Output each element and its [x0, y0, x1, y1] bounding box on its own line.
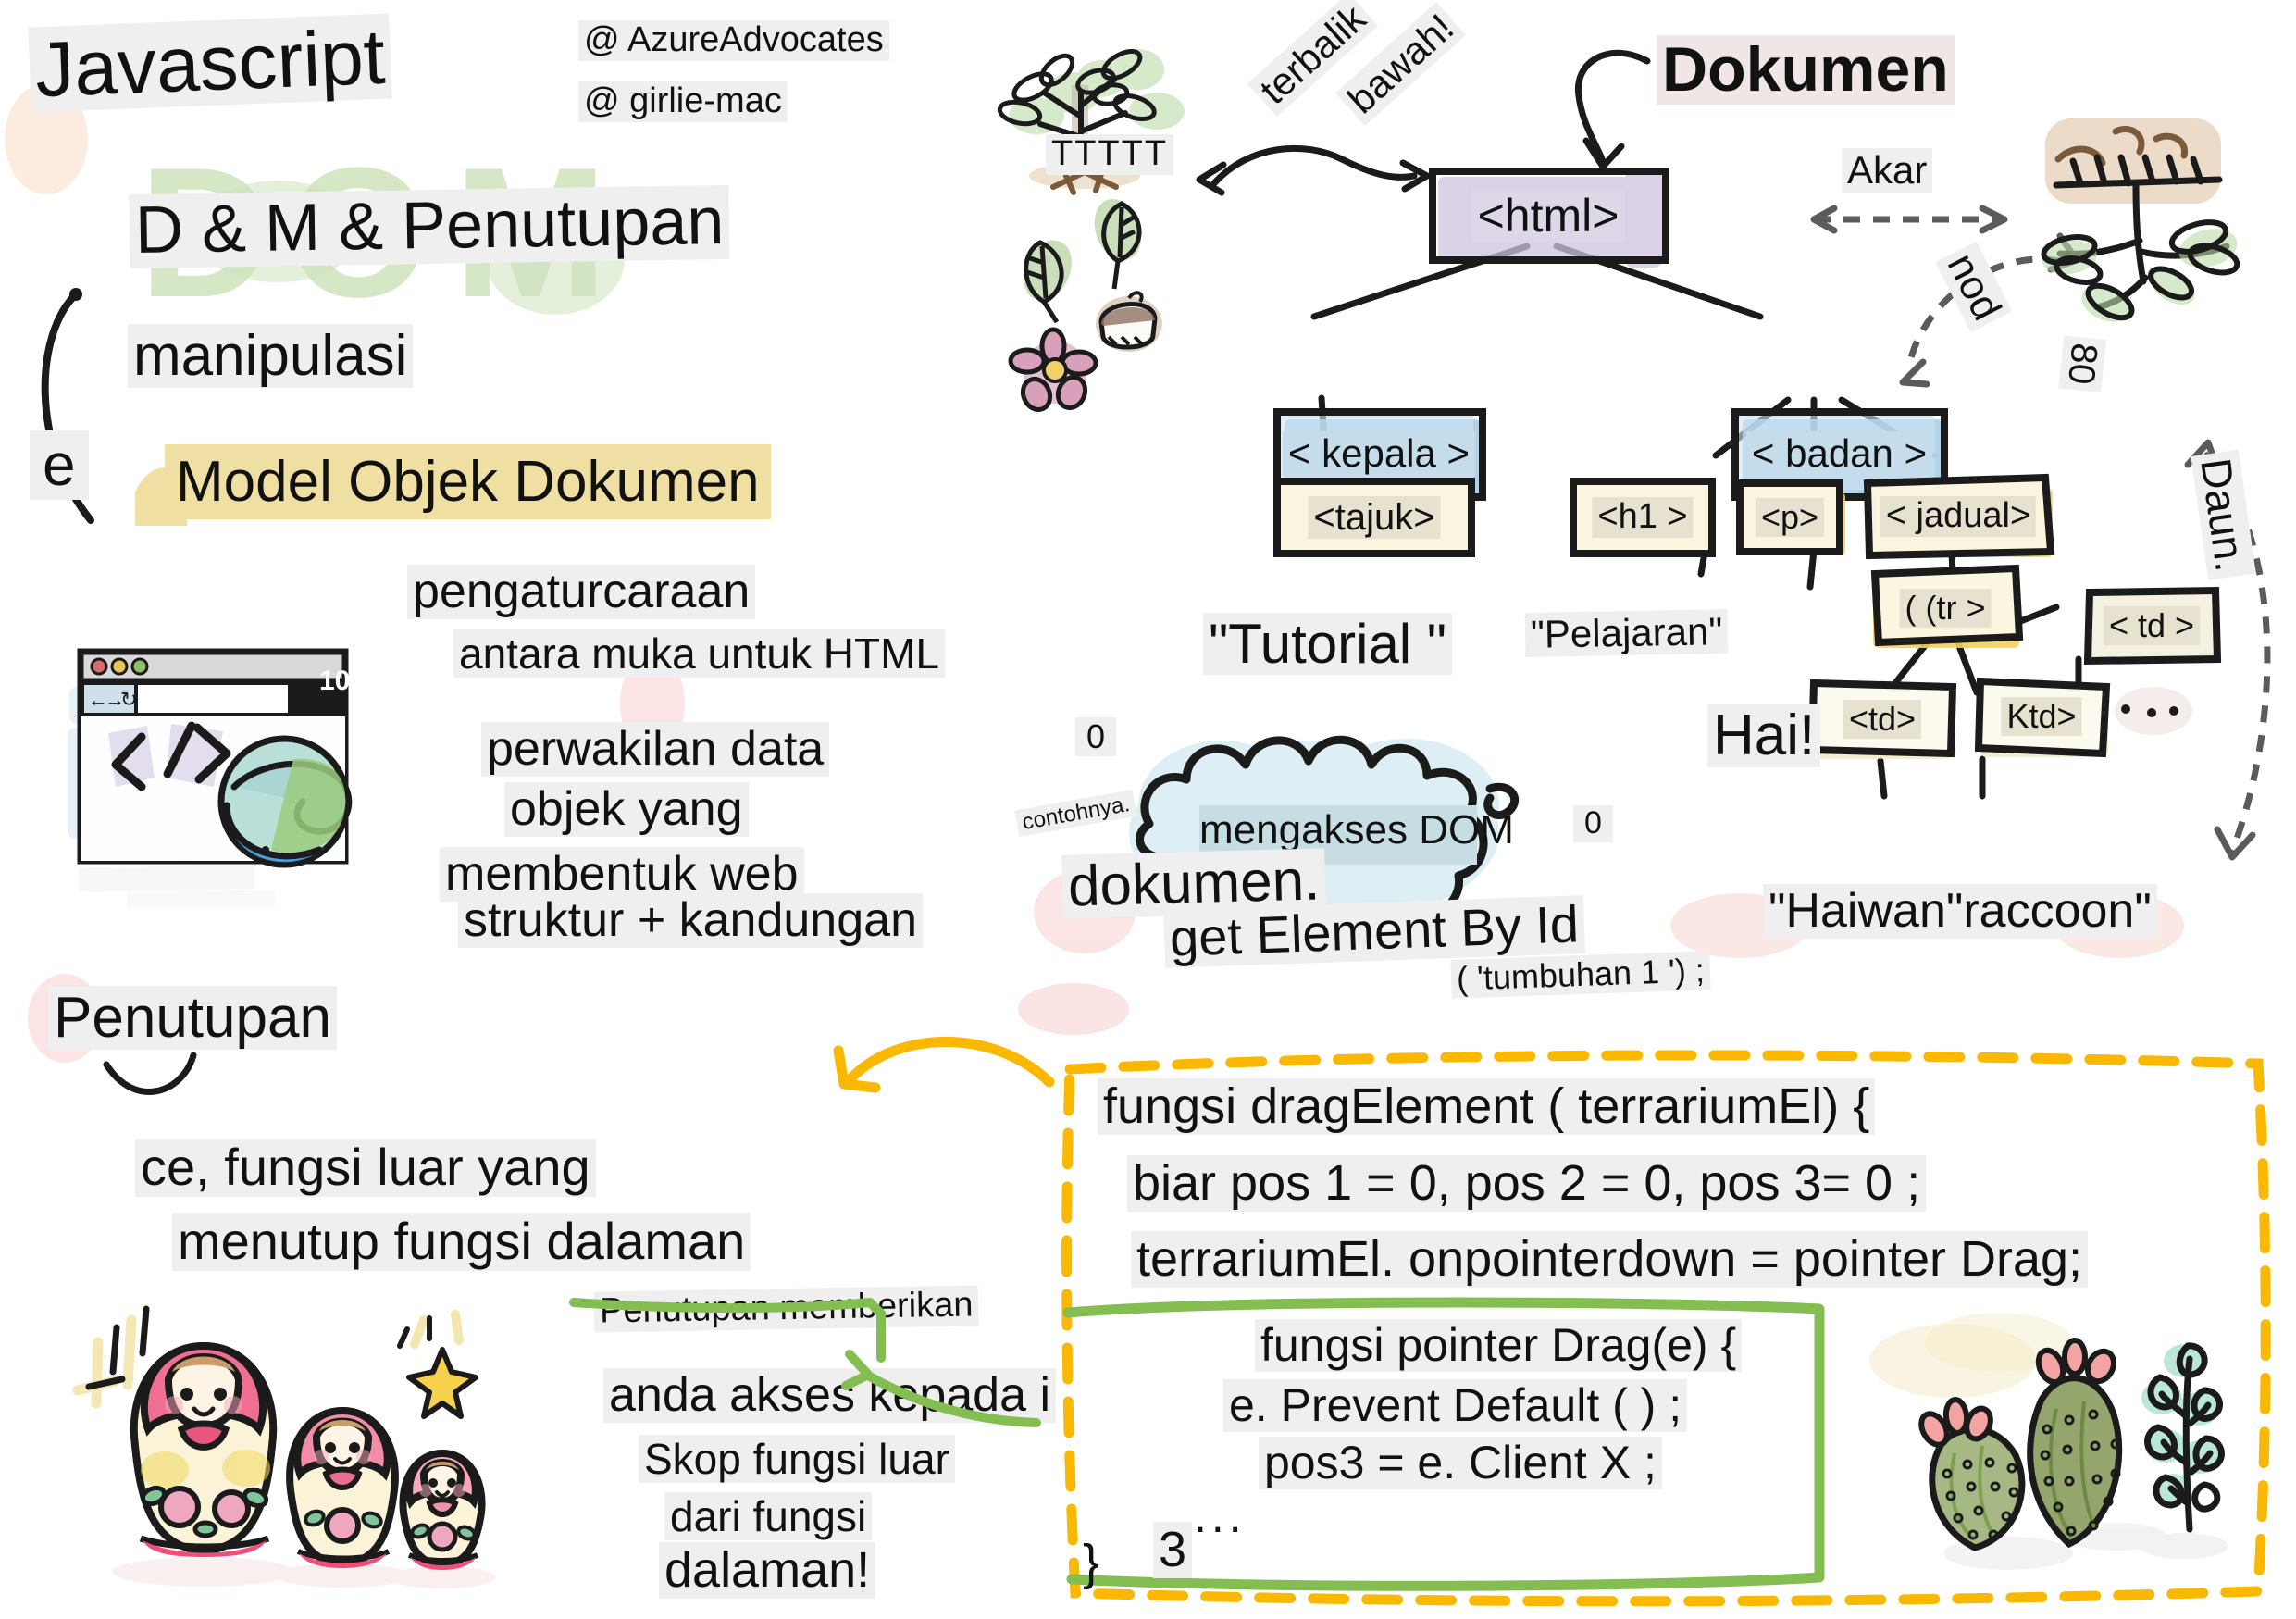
note-struktur-kandungan: struktur + kandungan: [458, 893, 923, 948]
marker-zero-left: 0: [1075, 717, 1116, 756]
tree-node-html: <html>: [1433, 171, 1664, 259]
code-outer-line-1: fungsi dragElement ( terrariumEl) {: [1098, 1078, 1875, 1135]
handle-girliemac: @ girlie-mac: [578, 81, 788, 122]
browser-url-right-label: 10 = 1: [319, 666, 397, 696]
tree-node-td-1: <td>: [1814, 685, 1951, 753]
plant-label-ttttt: TTTTT: [1046, 134, 1173, 175]
handle-azure: @ AzureAdvocates: [578, 20, 889, 61]
svg-text:↻: ↻: [120, 688, 137, 711]
header-line3: manipulasi: [128, 324, 413, 388]
code-inner-ellipsis: ...: [1194, 1492, 1247, 1541]
code-outer-close-brace: }: [1083, 1537, 1099, 1589]
text-value-haiwan-raccoon: "Haiwan"raccoon": [1763, 884, 2157, 939]
tree-node-jadual: < jadual>: [1868, 479, 2049, 554]
code-outer-line-2: biar pos 1 = 0, pos 2 = 0, pos 3= 0 ;: [1127, 1155, 1926, 1212]
tree-node-tajuk: <tajuk>: [1277, 481, 1471, 554]
text-value-pelajaran: "Pelajaran": [1525, 609, 1729, 657]
marker-zero-right: 0: [1573, 805, 1613, 842]
text-value-hai: Hai!: [1707, 704, 1820, 767]
closure-note-4: dari fungsi: [664, 1492, 872, 1540]
note-perwakilan-data: perwakilan data: [481, 722, 829, 777]
code-outer-line-3: terrariumEl. onpointerdown = pointer Dra…: [1131, 1231, 2088, 1288]
label-akar: Akar: [1842, 148, 1932, 193]
note-pengaturcaraan: pengaturcaraan: [407, 565, 755, 619]
tree-node-h1: <h1 >: [1573, 481, 1712, 554]
page-title: Javascript: [28, 14, 391, 113]
sketchnote-canvas: Javascript @ AzureAdvocates @ girlie-mac…: [0, 0, 2296, 1619]
cloud-label-mengakses-dom: mengakses DOM: [1199, 809, 1514, 852]
tree-node-td-2: Ktd>: [1980, 681, 2103, 752]
text-value-tutorial: "Tutorial ": [1203, 613, 1452, 675]
note-antara-muka: antara muka untuk HTML: [453, 629, 945, 678]
matryoshka-dolls-illustration: [56, 1231, 629, 1601]
code-inner-close: 3: [1153, 1522, 1192, 1578]
note-objek-yang: objek yang: [504, 782, 749, 837]
code-inner-line-2: e. Prevent Default ( ) ;: [1223, 1379, 1687, 1432]
tree-node-tr: ( (tr >: [1875, 574, 2016, 642]
label-80: 80: [2058, 336, 2106, 392]
closure-note-5: dalaman!: [659, 1542, 875, 1599]
label-dokumen: Dokumen: [1657, 35, 1955, 105]
header-highlight: Model Objek Dokumen: [165, 444, 771, 519]
closure-underline-swash: [97, 1027, 245, 1129]
closure-def-line1: ce, fungsi luar yang: [135, 1139, 596, 1197]
upside-down-plant-illustration: [2017, 111, 2295, 417]
code-inner-line-1: fungsi pointer Drag(e) {: [1255, 1319, 1742, 1372]
page-subtitle: D & M & Penutupan: [129, 185, 730, 268]
cactus-illustration: [1879, 1305, 2286, 1611]
bullet-e: e: [30, 430, 89, 500]
tree-node-p: <p>: [1740, 483, 1840, 552]
code-inner-line-3: pos3 = e. Client X ;: [1259, 1437, 1662, 1489]
closure-note-3: Skop fungsi luar: [639, 1435, 955, 1483]
